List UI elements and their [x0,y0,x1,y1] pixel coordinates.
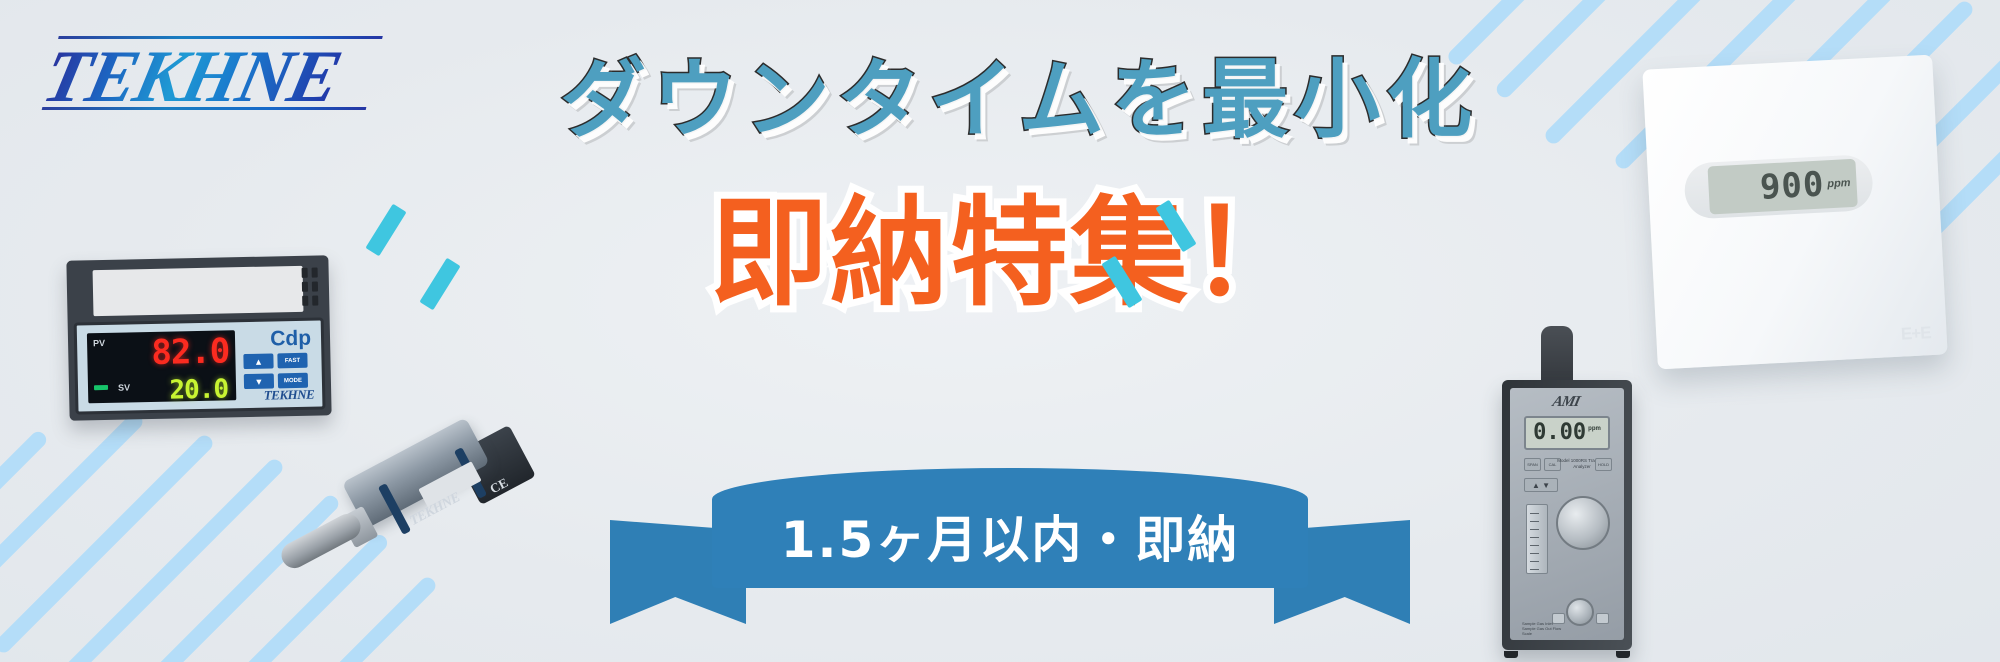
tekhne-logo[interactable]: TEKHNE [35,28,376,120]
wall-sensor-brand: E+E [1900,323,1931,345]
analyzer-updown-buttons[interactable]: ▲ ▼ [1524,478,1558,492]
wall-sensor-lcd: 900 ppm [1707,159,1857,215]
analyzer-feet [1504,651,1630,658]
gas-outlet-port [1596,613,1609,624]
page-title: 即納特集！ [500,188,1520,318]
pv-value: 82.0 [151,334,230,370]
sv-value: 20.0 [169,376,228,403]
logo-rule-bottom [42,107,367,110]
portable-gas-analyzer: AMI 0.00 ppm SPAN CAL Model 1000RS Trace… [1486,326,1642,656]
up-arrow-button[interactable]: ▲ [243,353,273,369]
logo-wordmark: TEKHNE [36,38,346,116]
wall-sensor-value: 900 [1759,167,1825,204]
controller-front-panel: PV 82.0 SV 20.0 Cdp ▲ FAST ▼ MODE TEKHNE [74,317,326,414]
analyzer-unit: ppm [1588,426,1601,432]
analyzer-value: 0.00 [1533,422,1586,444]
temperature-controller: PV 82.0 SV 20.0 Cdp ▲ FAST ▼ MODE TEKHNE [66,255,331,420]
controller-vents [302,267,323,311]
sv-label: SV [118,382,130,392]
promo-banner: TEKHNE ダウンタイムを最小化 即納特集！ 1.5ヶ月以内・即納 PV 82… [0,0,2000,662]
analyzer-footer-text: Sample Gas Inlet Sample Gas Out Flow Sca… [1522,621,1566,636]
controller-screen: PV 82.0 SV 20.0 [87,330,236,403]
controller-brand: TEKHNE [264,387,315,404]
analyzer-main-knob[interactable] [1556,496,1610,550]
analyzer-flow-meter [1526,504,1548,574]
analyzer-lcd: 0.00 ppm [1524,416,1610,450]
wall-co2-transmitter: 900 ppm E+E [1642,55,1947,370]
ribbon-label: 1.5ヶ月以内・即納 [712,468,1308,588]
analyzer-flow-knob[interactable] [1566,598,1594,626]
span-button[interactable]: SPAN [1524,458,1541,471]
controller-series-label: Cdp [270,327,311,352]
controller-spec-label [93,266,304,316]
fast-button[interactable]: FAST [277,353,307,369]
pv-label: PV [93,338,105,348]
hold-button[interactable]: HOLD [1595,458,1612,471]
delivery-ribbon: 1.5ヶ月以内・即納 [610,468,1410,628]
status-lamp [94,385,108,390]
wall-sensor-unit: ppm [1827,177,1851,190]
headline-text: ダウンタイムを最小化 [560,52,1460,148]
humidity-probe: TEKHNE CE [268,418,538,578]
analyzer-panel: AMI 0.00 ppm SPAN CAL Model 1000RS Trace… [1510,388,1624,640]
